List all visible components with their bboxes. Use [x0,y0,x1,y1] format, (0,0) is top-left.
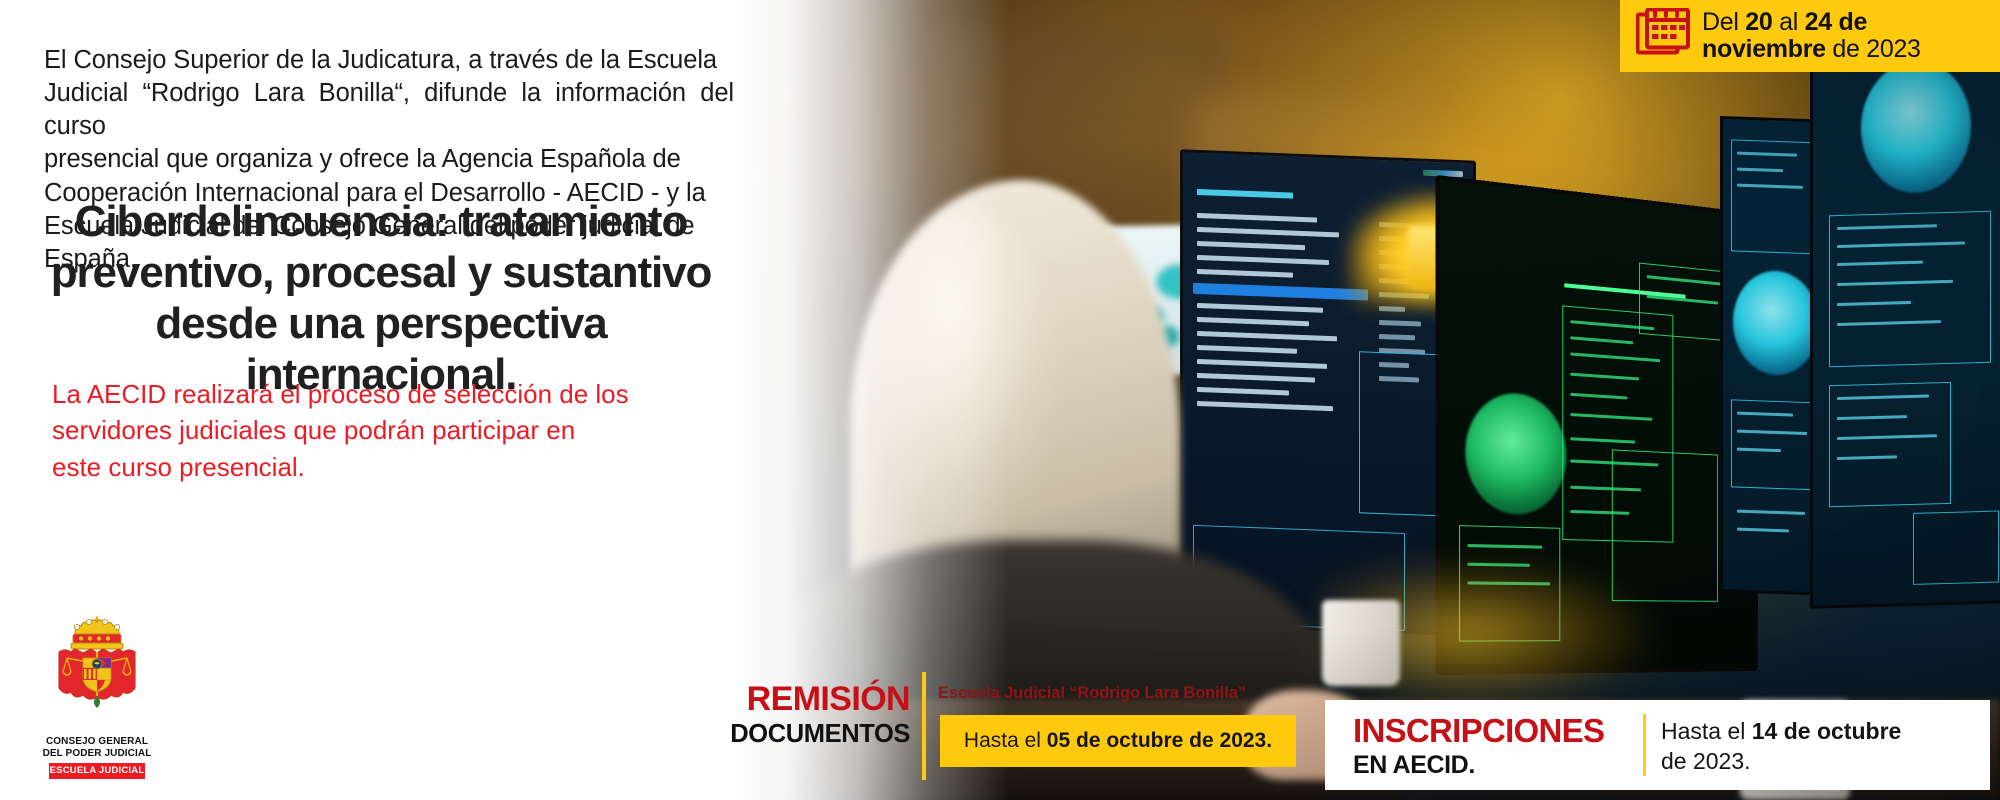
date-badge-text: Del 20 al 24 denoviembre de 2023 [1702,9,1921,64]
red-note-line: servidores judiciales que podrán partici… [52,412,716,448]
date-day-to-month: 24 de [1805,8,1867,36]
logo-line-2: DEL PODER JUDICIAL [38,748,156,760]
logo-band-escuela-judicial: ESCUELA JUDICIAL [49,763,145,779]
inscripciones-deadline: Hasta el 14 de octubrede 2023. [1661,716,1971,777]
intro-line: El Consejo Superior de la Judicatura, a … [44,44,734,77]
remision-school-label: Escuela Judicial “Rodrigo Lara Bonilla” [938,684,1246,703]
logo-text: CONSEJO GENERAL DEL PODER JUDICIAL [38,736,156,760]
date-middle: al [1772,8,1804,36]
remision-block: REMISIÓN DOCUMENTOS Escuela Judicial “Ro… [712,668,1312,786]
inscripciones-title-black: EN AECID. [1353,750,1604,780]
date-suffix: de 2023 [1826,35,1921,63]
red-note-line: este curso presencial. [52,449,716,485]
promotional-banner: El Consejo Superior de la Judicatura, a … [0,0,2000,800]
inscripciones-deadline-prefix: Hasta el [1661,718,1752,744]
inscripciones-titles: INSCRIPCIONES EN AECID. [1353,714,1604,780]
green-globe-graphic [1465,390,1566,516]
page-title: Ciberdelincuencia: tratamiento preventiv… [22,196,740,400]
cyan-globe-right [1861,59,1971,194]
date-badge: Del 20 al 24 denoviembre de 2023 [1620,0,2000,72]
intro-line: presencial que organiza y ofrece la Agen… [44,143,734,176]
date-day-from: 20 [1745,8,1772,36]
cyan-hologram-monitor-right [1810,37,2000,609]
inscripciones-title-red: INSCRIPCIONES [1353,714,1604,747]
coffee-mug [1322,600,1400,686]
logo-line-1: CONSEJO GENERAL [38,736,156,748]
inscripciones-divider [1643,714,1646,776]
cyan-globe-left [1733,269,1819,376]
logo: CONSEJO GENERAL DEL PODER JUDICIAL ESCUE… [38,612,156,779]
inscripciones-deadline-date: 14 de octubre [1752,718,1902,744]
remision-deadline-box: Hasta el 05 de octubre de 2023. [940,715,1296,767]
remision-divider [922,672,926,780]
inscripciones-deadline-year: de 2023. [1661,748,1751,774]
date-month: noviembre [1702,35,1826,63]
remision-deadline-date: 05 de octubre de 2023. [1047,729,1272,752]
red-note-paragraph: La AECID realizará el proceso de selecci… [52,376,716,485]
remision-deadline-prefix: Hasta el [964,729,1047,752]
blue-list-rows [1197,213,1347,421]
calendar-icon [1636,8,1690,65]
intro-line: Judicial “Rodrigo Lara Bonilla“, difunde… [44,77,734,143]
date-prefix: Del [1702,8,1745,36]
spain-judiciary-coat-of-arms-icon [45,612,149,732]
remision-title-red: REMISIÓN [712,682,910,716]
red-note-line: La AECID realizará el proceso de selecci… [52,376,716,412]
inscripciones-block: INSCRIPCIONES EN AECID. Hasta el 14 de o… [1325,700,1990,790]
remision-title-black: DOCUMENTOS [712,719,910,750]
remision-titles: REMISIÓN DOCUMENTOS [712,682,910,750]
blue-window-title [1197,189,1293,199]
